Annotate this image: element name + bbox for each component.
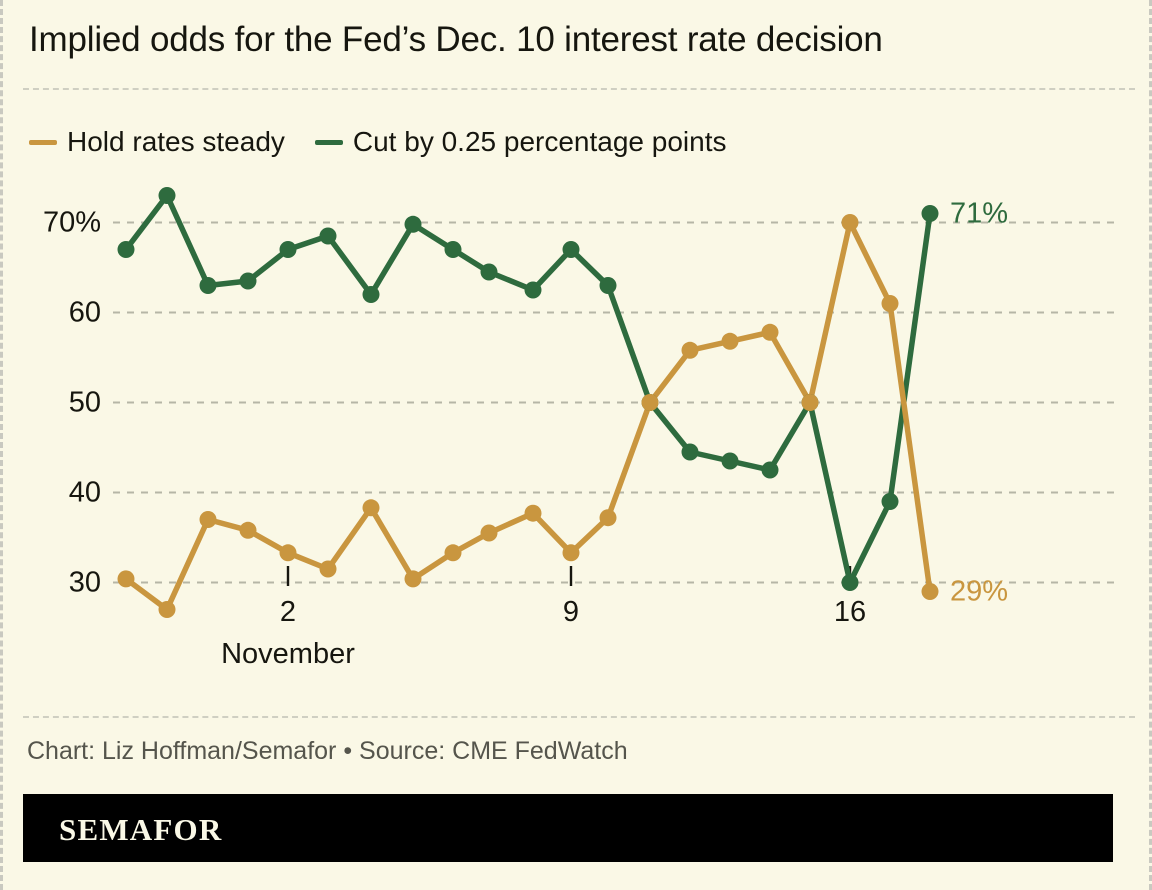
- data-point-hold[interactable]: [481, 525, 498, 542]
- data-point-cut[interactable]: [682, 444, 699, 461]
- data-point-hold[interactable]: [405, 570, 422, 587]
- data-point-hold[interactable]: [882, 295, 899, 312]
- semafor-logo: SEMAFOR: [59, 812, 222, 848]
- data-point-hold[interactable]: [842, 214, 859, 231]
- chart-credit: Chart: Liz Hoffman/Semafor • Source: CME…: [27, 737, 628, 766]
- data-point-hold[interactable]: [600, 509, 617, 526]
- data-point-hold[interactable]: [525, 505, 542, 522]
- data-point-cut[interactable]: [240, 273, 257, 290]
- data-point-cut[interactable]: [405, 216, 422, 233]
- x-axis-tick-label: 16: [834, 596, 866, 629]
- data-point-hold[interactable]: [320, 561, 337, 578]
- y-axis-tick-label: 40: [3, 476, 101, 509]
- data-point-hold[interactable]: [363, 499, 380, 516]
- data-point-cut[interactable]: [842, 574, 859, 591]
- data-point-cut[interactable]: [600, 277, 617, 294]
- data-point-hold[interactable]: [722, 333, 739, 350]
- x-axis-tick-label: 2: [280, 596, 296, 629]
- data-point-cut[interactable]: [445, 241, 462, 258]
- data-point-hold[interactable]: [642, 394, 659, 411]
- end-label-hold: 29%: [950, 575, 1008, 608]
- data-point-hold[interactable]: [445, 544, 462, 561]
- data-point-hold[interactable]: [762, 324, 779, 341]
- end-label-cut: 71%: [950, 197, 1008, 230]
- y-axis-tick-label: 70%: [3, 206, 101, 239]
- chart-x-ticks: [288, 566, 850, 586]
- data-point-hold[interactable]: [240, 522, 257, 539]
- data-point-hold[interactable]: [280, 544, 297, 561]
- x-axis-tick-label: 9: [563, 596, 579, 629]
- data-point-hold[interactable]: [922, 583, 939, 600]
- data-point-cut[interactable]: [200, 277, 217, 294]
- x-axis-title: November: [221, 638, 355, 671]
- y-axis-tick-label: 60: [3, 296, 101, 329]
- data-point-cut[interactable]: [320, 228, 337, 245]
- data-point-hold[interactable]: [682, 342, 699, 359]
- chart-card: Implied odds for the Fed’s Dec. 10 inter…: [0, 0, 1152, 890]
- y-axis-tick-label: 50: [3, 386, 101, 419]
- data-point-cut[interactable]: [118, 241, 135, 258]
- data-point-cut[interactable]: [481, 264, 498, 281]
- data-point-hold[interactable]: [118, 570, 135, 587]
- data-point-hold[interactable]: [802, 394, 819, 411]
- data-point-hold[interactable]: [200, 511, 217, 528]
- data-point-hold[interactable]: [563, 544, 580, 561]
- data-point-cut[interactable]: [563, 241, 580, 258]
- data-point-cut[interactable]: [525, 282, 542, 299]
- data-point-cut[interactable]: [363, 286, 380, 303]
- data-point-cut[interactable]: [722, 453, 739, 470]
- data-point-cut[interactable]: [882, 493, 899, 510]
- data-point-cut[interactable]: [159, 187, 176, 204]
- chart-gridlines: [113, 223, 1115, 583]
- data-point-cut[interactable]: [922, 205, 939, 222]
- footer-divider: [23, 716, 1135, 718]
- data-point-cut[interactable]: [280, 241, 297, 258]
- data-point-cut[interactable]: [762, 462, 779, 479]
- y-axis-tick-label: 30: [3, 566, 101, 599]
- data-point-hold[interactable]: [159, 601, 176, 618]
